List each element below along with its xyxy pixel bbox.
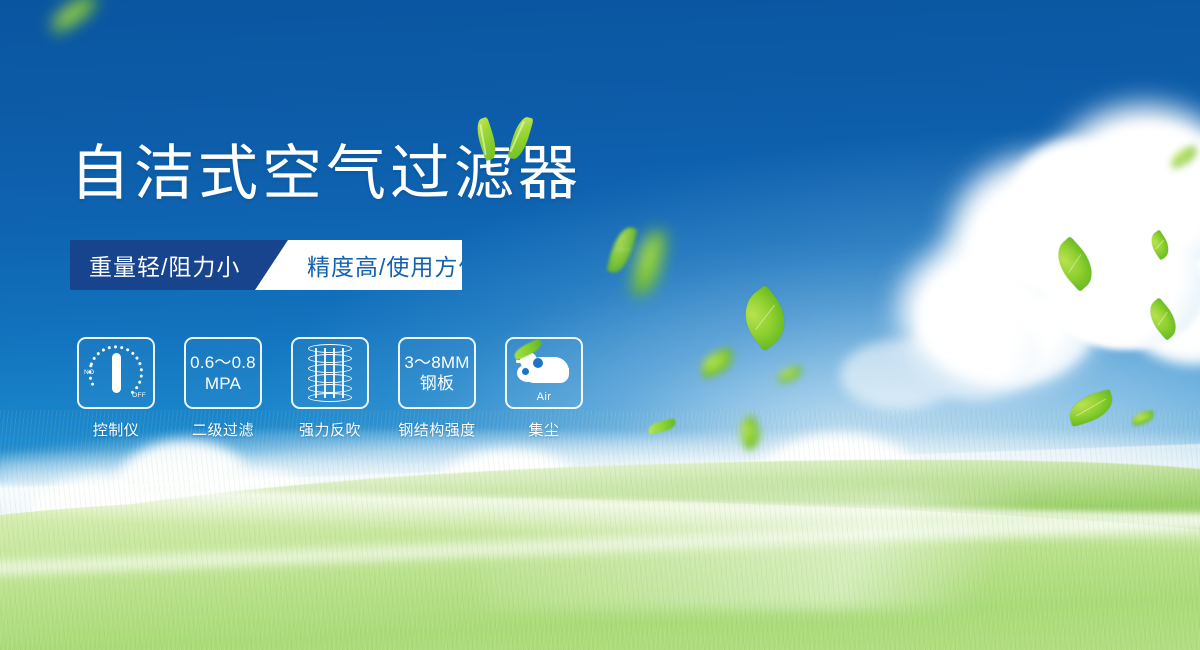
feature-icon-box: Air xyxy=(505,337,583,409)
air-cloud-icon: Air xyxy=(515,346,573,400)
feature-label: 二级过滤 xyxy=(192,419,254,440)
pressure-unit: MPA xyxy=(190,374,256,393)
page-title: 自洁式空气过滤器 xyxy=(70,142,582,207)
feature-icon-box: 0.6～0.8 MPA xyxy=(184,337,262,409)
feature-label: 强力反吹 xyxy=(299,419,361,440)
feature-item-steel-strength[interactable]: 3～8MM 钢板 钢结构强度 xyxy=(391,337,483,440)
badge-primary-label: 重量轻/阻力小 xyxy=(89,248,240,282)
steel-thickness: 3～8MM xyxy=(404,353,469,372)
grass-field xyxy=(0,410,1200,650)
filter-cartridge-icon xyxy=(308,344,352,402)
cloud-base xyxy=(525,368,569,383)
feature-icon-box: 3～8MM 钢板 xyxy=(398,337,476,409)
badge-secondary-label: 精度高/使用方便 xyxy=(307,248,482,282)
feature-label: 钢结构强度 xyxy=(398,419,476,440)
gauge-off-label: OFF xyxy=(132,392,146,399)
feature-label: 控制仪 xyxy=(93,419,140,440)
gauge-needle xyxy=(112,353,121,393)
feature-item-reverse-blow[interactable]: 强力反吹 xyxy=(284,337,376,440)
air-caption: Air xyxy=(515,391,573,403)
gauge-dial-icon: NO OFF xyxy=(85,344,147,402)
feature-item-dust-collection[interactable]: Air 集尘 xyxy=(498,337,590,440)
feature-item-two-stage-filter[interactable]: 0.6～0.8 MPA 二级过滤 xyxy=(177,337,269,440)
feature-icon-box xyxy=(291,337,369,409)
tagline-badges: 重量轻/阻力小 精度高/使用方便 xyxy=(70,240,462,290)
feature-item-controller[interactable]: NO OFF 控制仪 xyxy=(70,337,162,440)
field-path-diagonal xyxy=(480,490,1200,610)
gauge-on-label: NO xyxy=(84,369,94,376)
steel-plate-value-icon: 3～8MM 钢板 xyxy=(404,353,469,393)
cloud-small-mid xyxy=(840,300,1040,420)
feature-label: 集尘 xyxy=(528,419,559,440)
badge-secondary: 精度高/使用方便 xyxy=(255,240,462,290)
feature-list: NO OFF 控制仪 0.6～0.8 MPA 二级过滤 xyxy=(70,337,590,440)
pressure-range: 0.6～0.8 xyxy=(190,353,256,372)
feature-icon-box: NO OFF xyxy=(77,337,155,409)
pressure-value-icon: 0.6～0.8 MPA xyxy=(190,353,256,393)
hero-banner: 自洁式空气过滤器 重量轻/阻力小 精度高/使用方便 xyxy=(0,0,1200,650)
steel-material: 钢板 xyxy=(404,374,469,393)
